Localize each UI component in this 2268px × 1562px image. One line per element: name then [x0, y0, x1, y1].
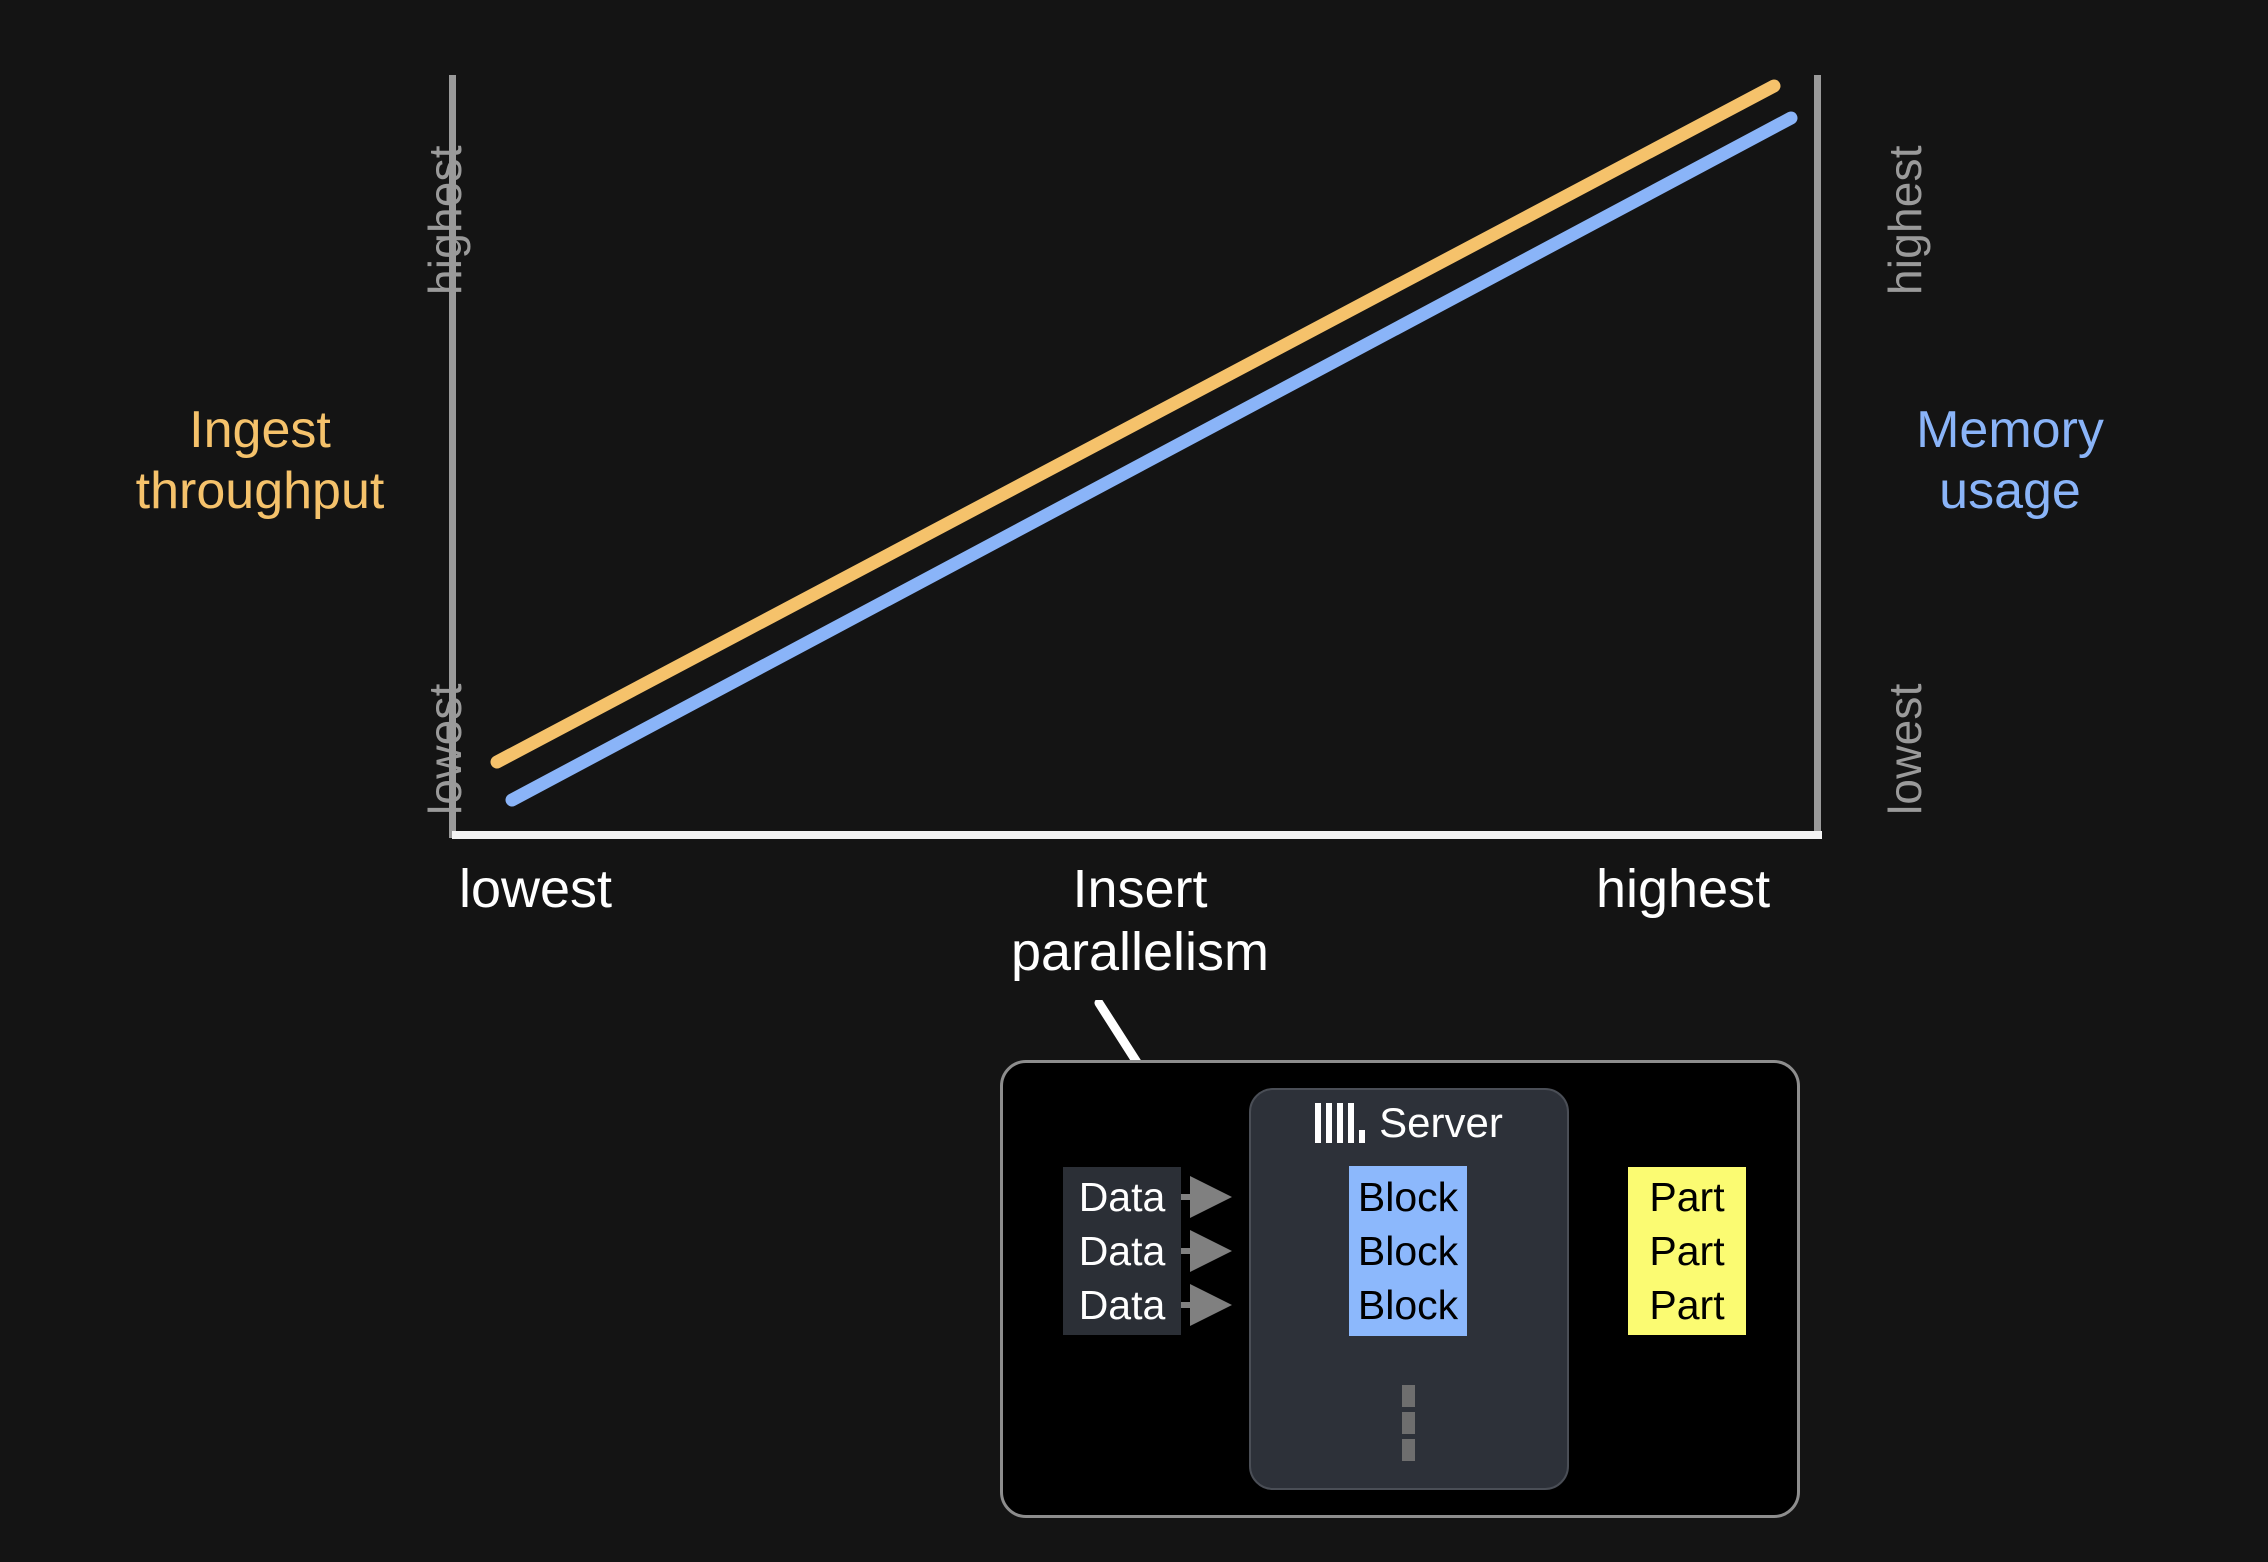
chart-area: highest lowest highest lowest Ingest thr… [0, 0, 2268, 1010]
clickhouse-logo-icon [1315, 1103, 1365, 1143]
ellipsis-dot-1 [1402, 1385, 1415, 1407]
block-box-3: Block [1349, 1274, 1467, 1336]
block-box-2: Block [1349, 1220, 1467, 1282]
block-box-1: Block [1349, 1166, 1467, 1228]
ellipsis-dot-3 [1402, 1439, 1415, 1461]
data-box-3: Data [1063, 1275, 1181, 1335]
data-box-2: Data [1063, 1221, 1181, 1281]
server-label: Server [1379, 1099, 1503, 1147]
part-box-1: Part [1628, 1167, 1746, 1227]
server-header: Server [1249, 1095, 1569, 1151]
series-line-memory-usage [512, 118, 1791, 800]
series-line-ingest-throughput [497, 86, 1774, 762]
part-box-3: Part [1628, 1275, 1746, 1335]
data-box-1: Data [1063, 1167, 1181, 1227]
part-box-2: Part [1628, 1221, 1746, 1281]
chart-plot-lines [0, 0, 2268, 1010]
ellipsis-dot-2 [1402, 1412, 1415, 1434]
